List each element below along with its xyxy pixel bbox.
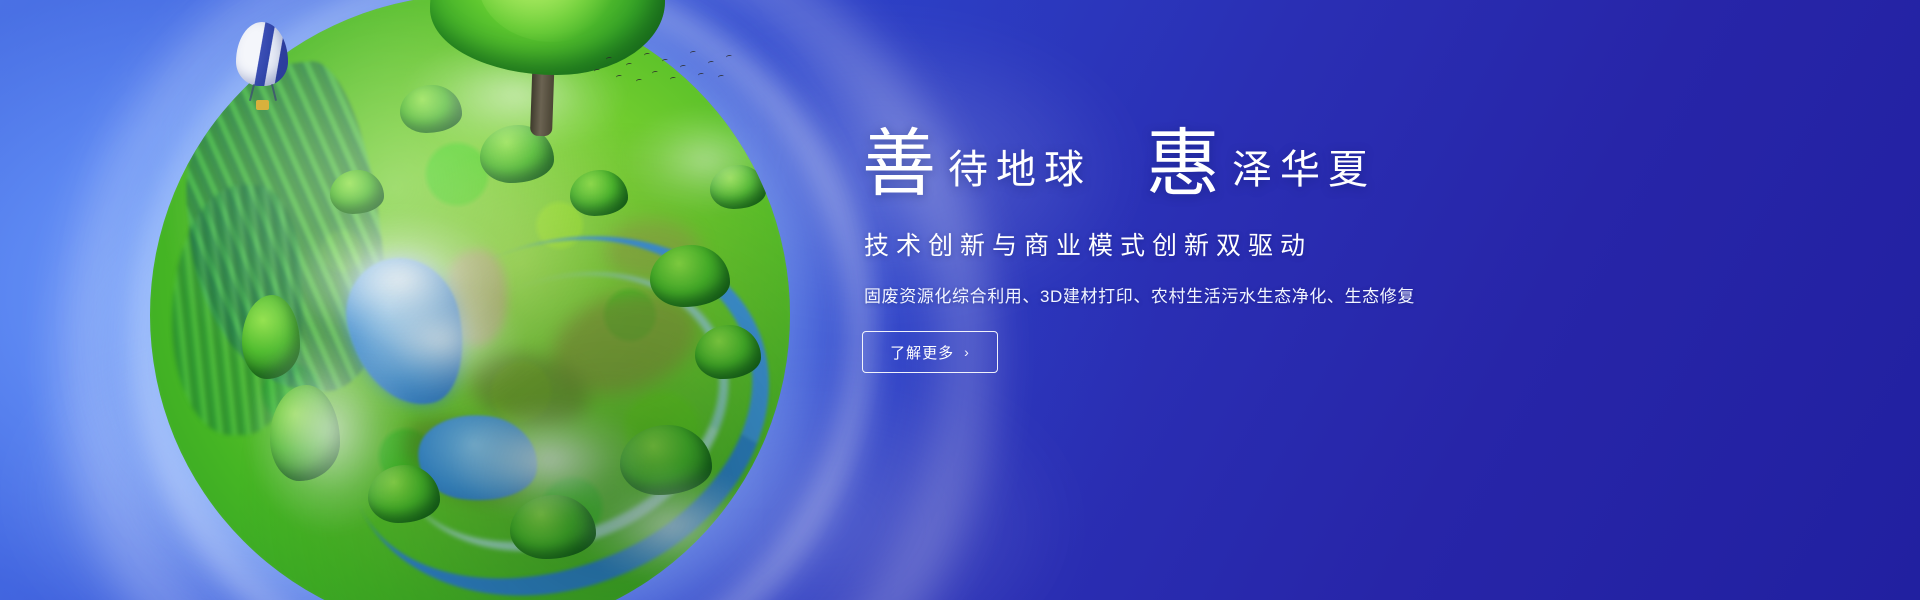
surface-cloud-icon bbox=[245, 325, 415, 535]
balloon-envelope bbox=[236, 22, 288, 86]
headline: 善 待地球 惠 泽华夏 bbox=[862, 128, 1562, 202]
balloon-rope bbox=[271, 84, 277, 101]
surface-cloud-icon bbox=[570, 465, 770, 585]
balloon-basket bbox=[256, 100, 269, 110]
headline-rest-2: 泽华夏 bbox=[1232, 150, 1376, 190]
chevron-right-icon: › bbox=[964, 344, 970, 360]
learn-more-label: 了解更多 bbox=[890, 342, 954, 363]
balloon-rope bbox=[249, 84, 255, 101]
tree-clump-icon bbox=[570, 170, 628, 216]
tree-clump-icon bbox=[695, 325, 761, 379]
hero-banner: 善 待地球 惠 泽华夏 技术创新与商业模式创新双驱动 固废资源化综合利用、3D建… bbox=[0, 0, 1920, 600]
surface-cloud-icon bbox=[620, 105, 790, 215]
learn-more-button[interactable]: 了解更多 › bbox=[862, 331, 998, 373]
tree-clump-icon bbox=[650, 245, 730, 307]
banner-content: 善 待地球 惠 泽华夏 技术创新与商业模式创新双驱动 固废资源化综合利用、3D建… bbox=[862, 128, 1562, 373]
banner-subtitle: 技术创新与商业模式创新双驱动 bbox=[864, 226, 1562, 262]
headline-lead-char-2: 惠 bbox=[1146, 128, 1220, 202]
banner-description: 固废资源化综合利用、3D建材打印、农村生活污水生态净化、生态修复 bbox=[864, 282, 1562, 307]
headline-lead-char-1: 善 bbox=[862, 128, 936, 202]
tree-clump-icon bbox=[330, 170, 384, 214]
hot-air-balloon-icon bbox=[236, 22, 292, 118]
bird-flock-icon bbox=[590, 45, 730, 95]
headline-rest-1: 待地球 bbox=[948, 150, 1092, 190]
